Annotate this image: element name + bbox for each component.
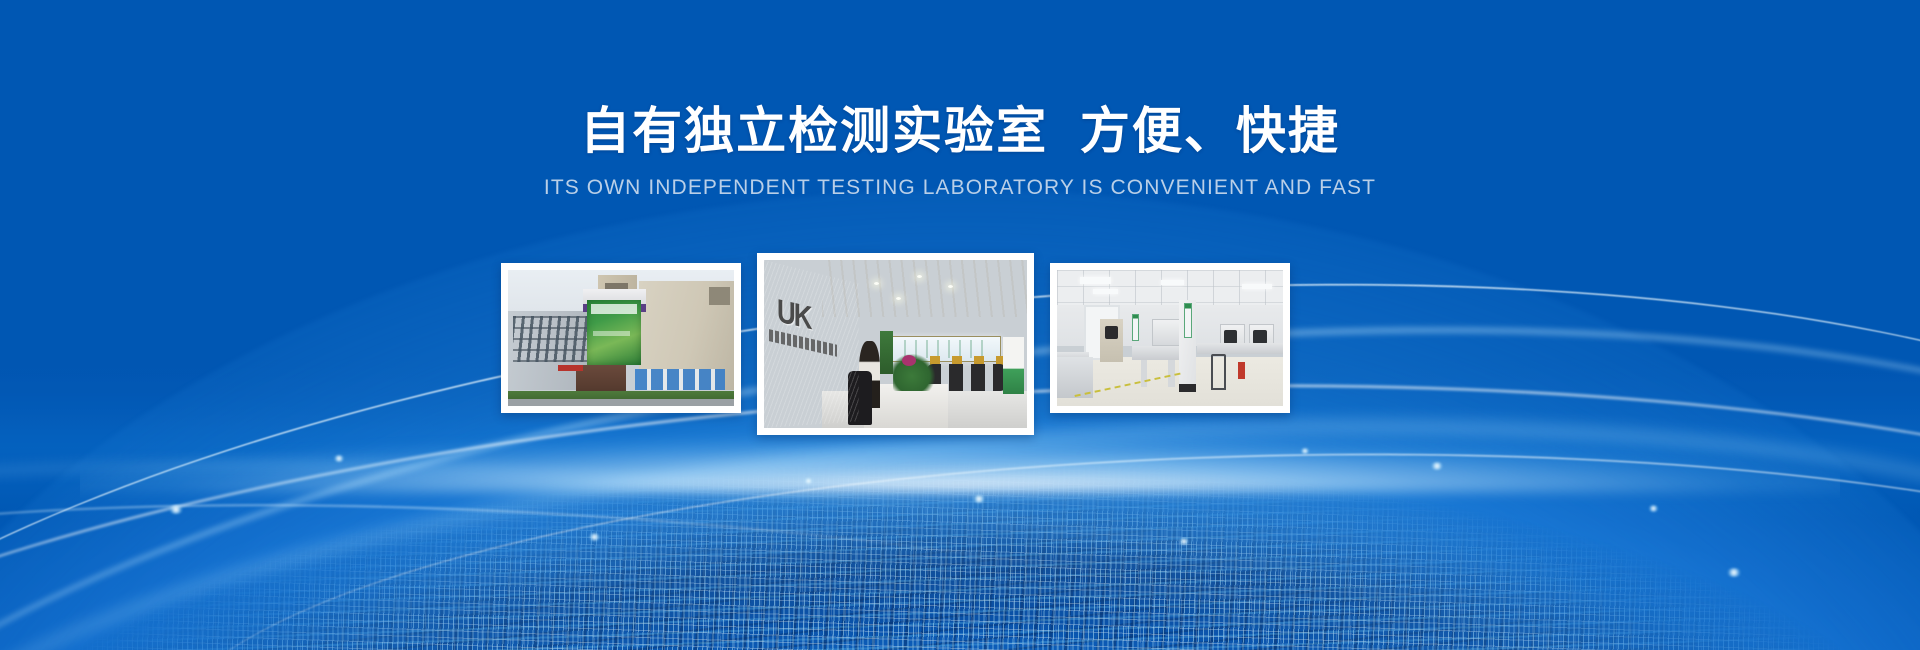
photo-frame-testing-laboratory[interactable] xyxy=(1050,263,1290,413)
photo2-standee xyxy=(1003,337,1024,394)
photo-reception-lobby: UK xyxy=(764,260,1027,428)
photo3-ceiling-light xyxy=(1093,289,1118,294)
photo2-ceiling-light xyxy=(896,297,901,300)
glow-dot xyxy=(333,455,345,462)
photo2-uk-lettering: UK xyxy=(777,291,811,337)
photo3-ceiling-light xyxy=(1242,284,1271,289)
photo1-road xyxy=(508,399,734,406)
photo1-posters xyxy=(635,369,725,389)
photo-building-exterior xyxy=(508,270,734,406)
photo3-workbench xyxy=(1197,343,1283,354)
photo1-billboard-text xyxy=(593,331,631,336)
page-title: 自有独立检测实验室 方便、快捷 xyxy=(0,104,1920,159)
photo-testing-laboratory xyxy=(1057,270,1283,406)
glow-dot xyxy=(1430,462,1444,470)
photo3-wall-sign xyxy=(1132,314,1139,341)
photo2-green-wall xyxy=(880,331,893,375)
photo3-ceiling-light xyxy=(1080,277,1112,284)
photo-frame-building-exterior[interactable] xyxy=(501,263,741,413)
glow-dot xyxy=(1178,538,1190,545)
photo1-green-billboard xyxy=(587,300,641,365)
photo3-ceiling-light xyxy=(1161,280,1184,285)
photo-gallery: UK xyxy=(501,253,1420,438)
photo1-billboard-title xyxy=(591,304,637,314)
page-subtitle: ITS OWN INDEPENDENT TESTING LABORATORY I… xyxy=(0,176,1920,200)
photo-frame-reception-lobby[interactable]: UK xyxy=(757,253,1034,435)
photo3-ceiling xyxy=(1057,270,1283,308)
photo2-flower-arrangement xyxy=(893,354,935,391)
photo3-column-sign xyxy=(1184,303,1191,338)
glow-dot xyxy=(972,495,986,503)
glow-dot xyxy=(1648,505,1659,512)
glow-dot xyxy=(1726,568,1742,577)
glow-dot xyxy=(588,533,601,541)
promotional-banner: 自有独立检测实验室 方便、快捷 ITS OWN INDEPENDENT TEST… xyxy=(0,0,1920,650)
glow-dot xyxy=(1300,448,1310,454)
glow-dot xyxy=(803,478,814,484)
photo3-chair xyxy=(1211,354,1227,389)
photo1-red-sign xyxy=(558,365,583,370)
glow-dot xyxy=(168,505,184,514)
headline-block: 自有独立检测实验室 方便、快捷 ITS OWN INDEPENDENT TEST… xyxy=(0,0,1920,200)
photo3-fire-extinguisher xyxy=(1238,362,1245,378)
photo2-ceiling-light xyxy=(917,275,922,278)
